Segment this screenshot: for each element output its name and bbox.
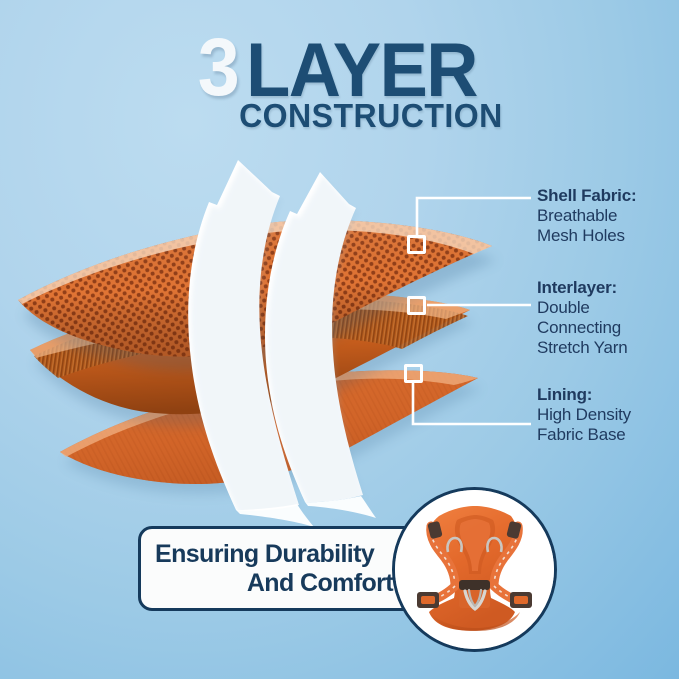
callout-line-1: Breathable — [537, 206, 636, 226]
callout-lining: Lining: High Density Fabric Base — [537, 385, 631, 445]
callout-line-1: Double — [537, 298, 628, 318]
callout-heading: Interlayer: — [537, 278, 628, 298]
callout-line-2: Fabric Base — [537, 425, 631, 445]
callout-line-2: Mesh Holes — [537, 226, 636, 246]
callout-line-2: Connecting — [537, 318, 628, 338]
callout-heading: Shell Fabric: — [537, 186, 636, 206]
callout-interlayer: Interlayer: Double Connecting Stretch Ya… — [537, 278, 628, 358]
tagline-line-2: And Comfort — [155, 569, 397, 598]
square-marker-icon-interlayer — [407, 296, 426, 315]
callout-shell-fabric: Shell Fabric: Breathable Mesh Holes — [537, 186, 636, 246]
product-photo-circle — [392, 487, 557, 652]
square-marker-icon-shell — [407, 235, 426, 254]
tagline-line-1: Ensuring Durability — [155, 540, 397, 569]
dog-harness-illustration — [395, 490, 554, 649]
callout-line-1: High Density — [537, 405, 631, 425]
infographic-canvas: 3 LAYER CONSTRUCTION — [0, 0, 679, 679]
leader-shell — [417, 198, 531, 235]
callout-line-3: Stretch Yarn — [537, 338, 628, 358]
square-marker-icon-lining — [404, 364, 423, 383]
callout-heading: Lining: — [537, 385, 631, 405]
tagline-box: Ensuring Durability And Comfort — [138, 526, 418, 611]
